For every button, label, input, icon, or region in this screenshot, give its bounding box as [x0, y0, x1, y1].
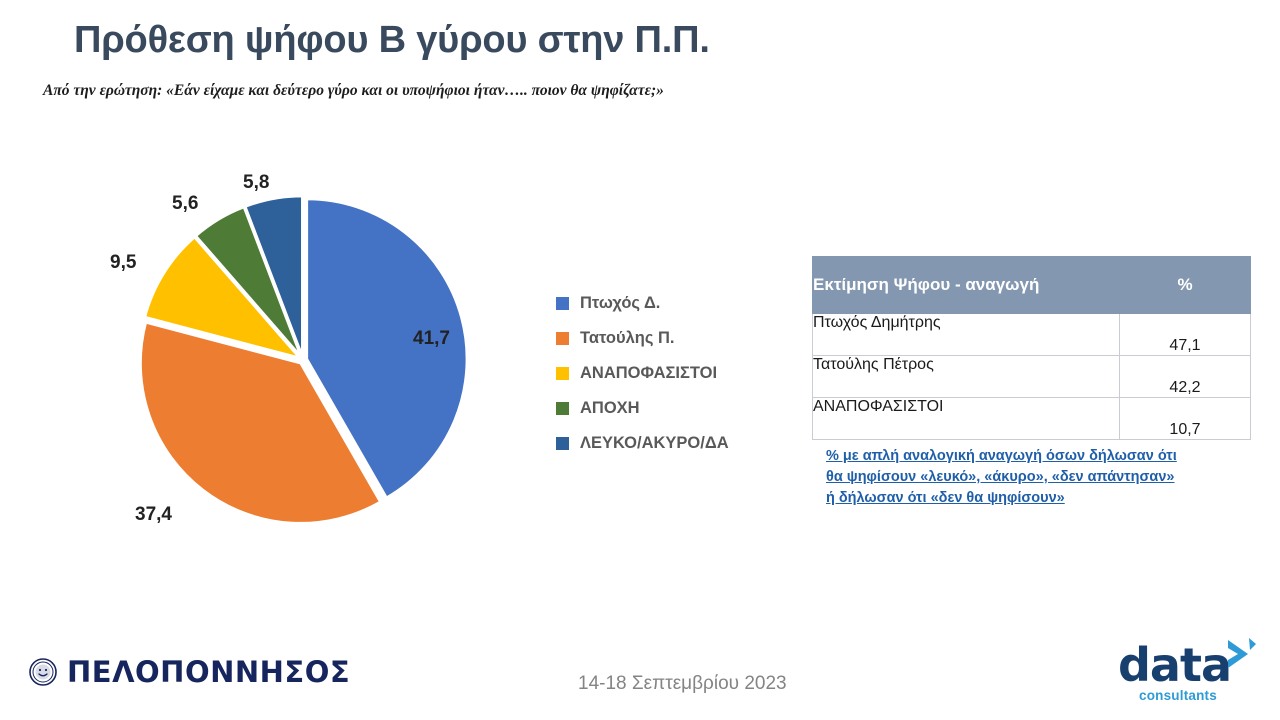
vote-estimate-table: Εκτίμηση Ψήφου - αναγωγή % Πτωχός Δημήτρ…	[812, 256, 1251, 440]
table-cell-percent: 42,2	[1120, 356, 1251, 398]
footnote-line-3: ή δήλωσαν ότι «δεν θα ψηφίσουν»	[826, 490, 1065, 506]
arrow-chevron-icon	[1218, 634, 1262, 678]
legend-swatch-icon-1	[556, 332, 569, 345]
table-row: ΑΝΑΠΟΦΑΣΙΣΤΟΙ 10,7	[813, 398, 1251, 440]
legend-swatch-icon-0	[556, 297, 569, 310]
table-cell-percent: 47,1	[1120, 314, 1251, 356]
table-row: Τατούλης Πέτρος 42,2	[813, 356, 1251, 398]
survey-date: 14-18 Σεπτεμβρίου 2023	[578, 673, 787, 695]
publisher-logo: ΠΕΛΟΠΟΝΝΗΣΟΣ	[28, 655, 350, 689]
pie-chart: 41,7 37,4 9,5 5,6 5,8	[110, 160, 580, 560]
legend-swatch-icon-2	[556, 367, 569, 380]
pie-chart-svg	[110, 160, 580, 560]
seal-emblem-icon	[28, 657, 58, 687]
table-cell-name: ΑΝΑΠΟΦΑΣΙΣΤΟΙ	[813, 398, 1120, 440]
agency-wordmark: data	[1118, 638, 1231, 692]
legend-item-1: Τατούλης Π.	[556, 321, 771, 356]
pie-label-value-2: 9,5	[110, 252, 136, 274]
table-row: Πτωχός Δημήτρης 47,1	[813, 314, 1251, 356]
table-header-label: Εκτίμηση Ψήφου - αναγωγή	[813, 257, 1120, 314]
footnote-line-2: θα ψηφίσουν «λευκό», «άκυρο», «δεν απάντ…	[826, 469, 1174, 485]
agency-tagline: consultants	[1139, 688, 1217, 703]
legend-item-3: ΑΠΟΧΗ	[556, 391, 771, 426]
publisher-wordmark: ΠΕΛΟΠΟΝΝΗΣΟΣ	[67, 655, 350, 689]
footnote-line-1: % με απλή αναλογική αναγωγή όσων δήλωσαν…	[826, 448, 1177, 464]
legend-item-0: Πτωχός Δ.	[556, 286, 771, 321]
pie-label-value-1: 37,4	[135, 504, 172, 526]
pie-label-value-0: 41,7	[413, 328, 450, 350]
legend-swatch-icon-4	[556, 437, 569, 450]
legend-label-1: Τατούλης Π.	[580, 329, 675, 348]
page-title: Πρόθεση ψήφου Β γύρου στην Π.Π.	[74, 19, 710, 62]
table-header-row: Εκτίμηση Ψήφου - αναγωγή %	[813, 257, 1251, 314]
legend-item-4: ΛΕΥΚΟ/ΑΚΥΡΟ/ΔΑ	[556, 426, 771, 461]
legend-item-2: ΑΝΑΠΟΦΑΣΙΣΤΟΙ	[556, 356, 771, 391]
pie-label-value-4: 5,8	[243, 172, 269, 194]
table-cell-percent: 10,7	[1120, 398, 1251, 440]
table-footnote: % με απλή αναλογική αναγωγή όσων δήλωσαν…	[826, 446, 1250, 509]
table-header-percent: %	[1120, 257, 1251, 314]
legend-label-0: Πτωχός Δ.	[580, 294, 660, 313]
legend-label-4: ΛΕΥΚΟ/ΑΚΥΡΟ/ΔΑ	[580, 434, 729, 453]
legend-swatch-icon-3	[556, 402, 569, 415]
chart-legend: Πτωχός Δ. Τατούλης Π. ΑΝΑΠΟΦΑΣΙΣΤΟΙ ΑΠΟΧ…	[556, 286, 771, 461]
table-cell-name: Τατούλης Πέτρος	[813, 356, 1120, 398]
legend-label-2: ΑΝΑΠΟΦΑΣΙΣΤΟΙ	[580, 364, 717, 383]
pie-slice-group	[141, 196, 467, 523]
table-cell-name: Πτωχός Δημήτρης	[813, 314, 1120, 356]
pie-label-value-3: 5,6	[172, 193, 198, 215]
slide-subtitle: Από την ερώτηση: «Εάν είχαμε και δεύτερο…	[43, 82, 664, 100]
legend-label-3: ΑΠΟΧΗ	[580, 399, 640, 418]
agency-logo: data consultants	[1118, 638, 1258, 710]
